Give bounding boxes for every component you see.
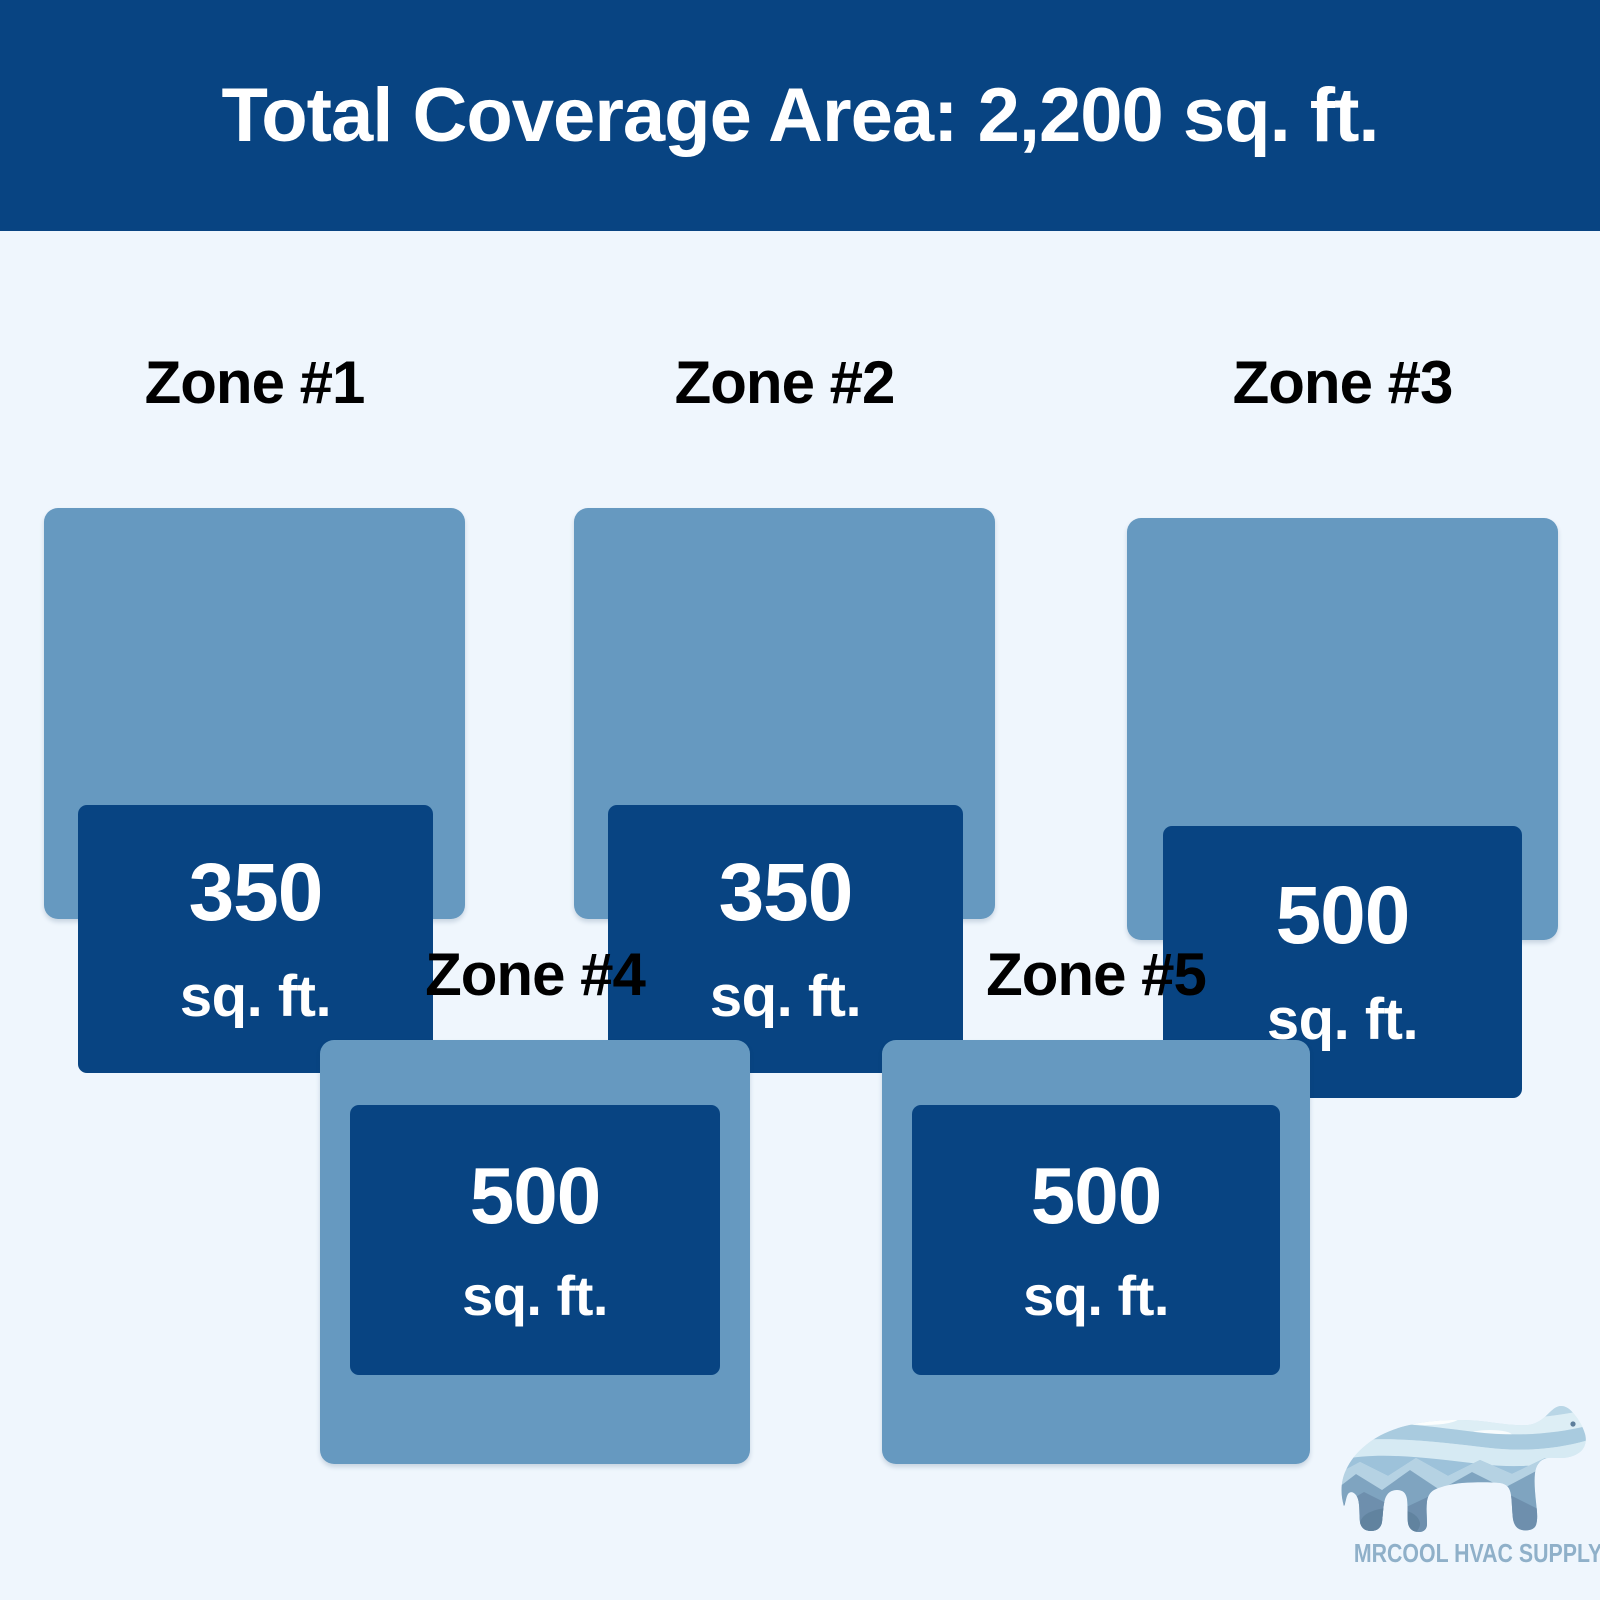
- page-title: Total Coverage Area: 2,200 sq. ft.: [221, 78, 1378, 154]
- zone-outer-square-4: 500 sq. ft.: [320, 1040, 750, 1464]
- header-banner: Total Coverage Area: 2,200 sq. ft.: [0, 0, 1600, 231]
- zone-unit-1: sq. ft.: [180, 968, 331, 1026]
- zone-inner-square-5: 500 sq. ft.: [912, 1105, 1280, 1375]
- zone-inner-square-4: 500 sq. ft.: [350, 1105, 720, 1375]
- zone-outer-square-3: 500 sq. ft.: [1127, 518, 1558, 940]
- zone-value-4: 500: [470, 1156, 600, 1236]
- zone-label-2: Zone #2: [574, 353, 995, 413]
- zone-value-1: 350: [189, 852, 323, 934]
- zone-label-5: Zone #5: [882, 945, 1310, 1005]
- zone-label-1: Zone #1: [44, 353, 465, 413]
- logo-wordmark: MRCOOL HVAC SUPPLY: [1354, 1540, 1571, 1566]
- zone-label-4: Zone #4: [320, 945, 750, 1005]
- zone-label-3: Zone #3: [1127, 353, 1558, 413]
- zone-unit-4: sq. ft.: [462, 1268, 608, 1324]
- zone-inner-square-1: 350 sq. ft.: [78, 805, 433, 1073]
- polar-bear-icon: [1330, 1378, 1595, 1538]
- zone-value-2: 350: [719, 852, 853, 934]
- zone-outer-square-1: 350 sq. ft.: [44, 508, 465, 919]
- brand-logo: MRCOOL HVAC SUPPLY: [1330, 1378, 1595, 1593]
- zone-unit-5: sq. ft.: [1023, 1268, 1169, 1324]
- zone-value-5: 500: [1031, 1156, 1161, 1236]
- zone-inner-square-2: 350 sq. ft.: [608, 805, 963, 1073]
- zone-outer-square-2: 350 sq. ft.: [574, 508, 995, 919]
- zone-outer-square-5: 500 sq. ft.: [882, 1040, 1310, 1464]
